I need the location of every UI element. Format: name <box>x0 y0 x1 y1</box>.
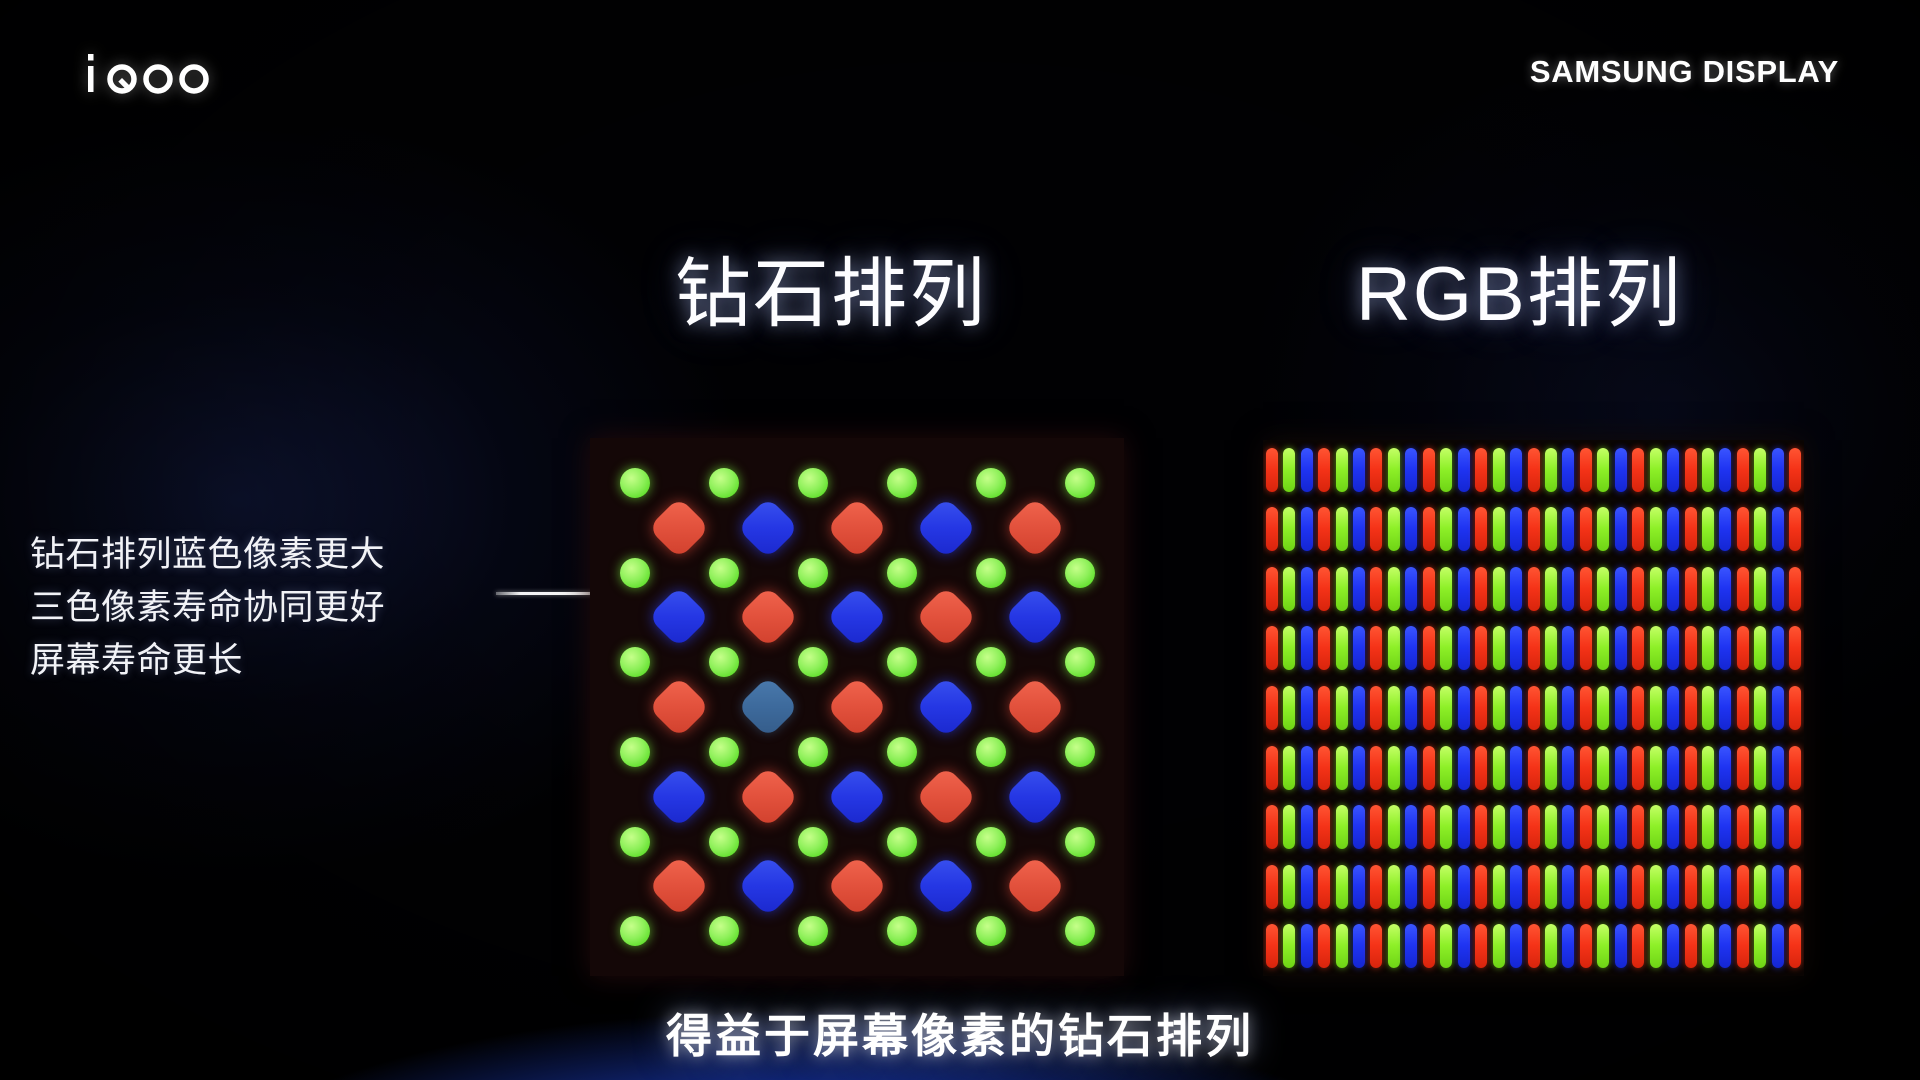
red-subpixel <box>1370 746 1382 790</box>
red-subpixel <box>1528 865 1540 909</box>
blue-subpixel <box>915 855 977 917</box>
blue-subpixel <box>1405 448 1417 492</box>
blue-subpixel <box>1301 626 1313 670</box>
green-subpixel <box>887 827 917 857</box>
green-subpixel <box>1440 924 1452 968</box>
blue-subpixel <box>1667 924 1679 968</box>
green-subpixel <box>1440 746 1452 790</box>
green-subpixel <box>1493 805 1505 849</box>
green-subpixel <box>1440 686 1452 730</box>
green-subpixel <box>1493 865 1505 909</box>
red-subpixel <box>1266 686 1278 730</box>
green-subpixel <box>1388 805 1400 849</box>
blue-subpixel <box>1667 805 1679 849</box>
green-subpixel <box>1650 686 1662 730</box>
red-subpixel <box>915 766 977 828</box>
blue-subpixel <box>1562 924 1574 968</box>
green-subpixel <box>1650 567 1662 611</box>
green-subpixel <box>1545 448 1557 492</box>
blue-subpixel <box>1667 865 1679 909</box>
red-subpixel <box>737 766 799 828</box>
diamond-pixel-grid <box>590 438 1124 976</box>
blue-subpixel <box>648 586 710 648</box>
rgb-stripe-pixel-grid <box>1263 440 1804 976</box>
annotation-line-1: 钻石排列蓝色像素更大 <box>30 528 510 581</box>
green-subpixel <box>1388 567 1400 611</box>
red-subpixel <box>826 676 888 738</box>
red-subpixel <box>1737 865 1749 909</box>
green-subpixel <box>1650 448 1662 492</box>
red-subpixel <box>1475 686 1487 730</box>
green-subpixel <box>1440 507 1452 551</box>
samsung-display-logo: SAMSUNG DISPLAY <box>1530 54 1839 90</box>
blue-subpixel <box>1615 686 1627 730</box>
red-subpixel <box>1370 567 1382 611</box>
blue-subpixel <box>1405 805 1417 849</box>
blue-subpixel <box>1301 805 1313 849</box>
red-subpixel <box>1423 805 1435 849</box>
green-subpixel <box>1597 567 1609 611</box>
blue-subpixel <box>1405 865 1417 909</box>
green-subpixel <box>709 916 739 946</box>
green-subpixel <box>1493 567 1505 611</box>
blue-subpixel <box>1458 865 1470 909</box>
red-subpixel <box>1423 686 1435 730</box>
red-subpixel <box>1632 924 1644 968</box>
iqoo-wordmark-icon <box>86 52 226 94</box>
green-subpixel <box>1283 448 1295 492</box>
blue-subpixel <box>1301 567 1313 611</box>
green-subpixel <box>798 468 828 498</box>
blue-subpixel <box>1772 924 1784 968</box>
red-subpixel <box>1318 924 1330 968</box>
green-subpixel <box>1336 805 1348 849</box>
blue-subpixel <box>1458 686 1470 730</box>
blue-subpixel <box>1562 567 1574 611</box>
blue-subpixel <box>1510 448 1522 492</box>
red-subpixel <box>648 676 710 738</box>
blue-subpixel <box>1510 507 1522 551</box>
red-subpixel <box>1737 626 1749 670</box>
green-subpixel <box>1440 448 1452 492</box>
red-subpixel <box>1789 746 1801 790</box>
green-subpixel <box>1702 805 1714 849</box>
red-subpixel <box>1423 924 1435 968</box>
slide-canvas: SAMSUNG DISPLAY 钻石排列 RGB排列 钻石排列蓝色像素更大三色像… <box>0 0 1920 1080</box>
red-subpixel <box>1266 805 1278 849</box>
green-subpixel <box>1283 507 1295 551</box>
green-subpixel <box>1597 805 1609 849</box>
green-subpixel <box>1065 737 1095 767</box>
green-subpixel <box>1283 686 1295 730</box>
green-subpixel <box>1702 746 1714 790</box>
iqoo-logo <box>86 52 226 94</box>
blue-subpixel <box>1562 805 1574 849</box>
blue-subpixel <box>1772 507 1784 551</box>
blue-subpixel <box>1667 746 1679 790</box>
red-subpixel <box>1266 626 1278 670</box>
blue-subpixel <box>1615 924 1627 968</box>
red-subpixel <box>1789 626 1801 670</box>
blue-subpixel <box>1615 567 1627 611</box>
green-subpixel <box>709 647 739 677</box>
blue-subpixel <box>1405 626 1417 670</box>
green-subpixel <box>1493 448 1505 492</box>
green-subpixel <box>976 737 1006 767</box>
green-subpixel <box>1650 924 1662 968</box>
green-subpixel <box>1283 567 1295 611</box>
red-subpixel <box>1737 924 1749 968</box>
blue-subpixel <box>826 766 888 828</box>
blue-subpixel <box>1562 626 1574 670</box>
red-subpixel <box>1789 805 1801 849</box>
green-subpixel <box>1597 746 1609 790</box>
green-subpixel <box>1283 924 1295 968</box>
blue-subpixel <box>1562 865 1574 909</box>
red-subpixel <box>1423 626 1435 670</box>
green-subpixel <box>1493 686 1505 730</box>
red-subpixel <box>1580 924 1592 968</box>
green-subpixel <box>1283 626 1295 670</box>
green-subpixel <box>1440 805 1452 849</box>
green-subpixel <box>1702 924 1714 968</box>
red-subpixel <box>1318 686 1330 730</box>
blue-subpixel <box>1510 924 1522 968</box>
red-subpixel <box>1528 626 1540 670</box>
red-subpixel <box>1318 746 1330 790</box>
green-subpixel <box>1065 468 1095 498</box>
red-subpixel <box>1789 924 1801 968</box>
green-subpixel <box>709 737 739 767</box>
red-subpixel <box>1685 924 1697 968</box>
red-subpixel <box>1685 448 1697 492</box>
green-subpixel <box>1754 746 1766 790</box>
red-subpixel <box>1685 805 1697 849</box>
green-subpixel <box>709 558 739 588</box>
blue-subpixel <box>1719 448 1731 492</box>
green-subpixel <box>798 558 828 588</box>
green-subpixel <box>1065 647 1095 677</box>
red-subpixel <box>1632 448 1644 492</box>
green-subpixel <box>1754 924 1766 968</box>
blue-subpixel <box>1405 746 1417 790</box>
annotation-text-block: 钻石排列蓝色像素更大三色像素寿命协同更好屏幕寿命更长 <box>30 528 510 687</box>
blue-subpixel <box>1510 746 1522 790</box>
red-subpixel <box>1632 686 1644 730</box>
green-subpixel <box>1336 686 1348 730</box>
green-subpixel <box>1702 865 1714 909</box>
red-subpixel <box>648 497 710 559</box>
red-subpixel <box>1789 865 1801 909</box>
blue-subpixel <box>1562 507 1574 551</box>
green-subpixel <box>1388 507 1400 551</box>
green-subpixel <box>976 916 1006 946</box>
red-subpixel <box>1266 567 1278 611</box>
red-subpixel <box>1266 448 1278 492</box>
green-subpixel <box>709 468 739 498</box>
red-subpixel <box>1475 507 1487 551</box>
blue-subpixel <box>1719 686 1731 730</box>
blue-subpixel <box>1772 805 1784 849</box>
blue-subpixel <box>1405 924 1417 968</box>
blue-subpixel <box>1772 686 1784 730</box>
red-subpixel <box>826 855 888 917</box>
annotation-line-2: 三色像素寿命协同更好 <box>30 581 510 634</box>
blue-subpixel <box>1405 507 1417 551</box>
red-subpixel <box>1423 448 1435 492</box>
red-subpixel <box>1528 746 1540 790</box>
blue-subpixel <box>1667 686 1679 730</box>
green-subpixel <box>1597 626 1609 670</box>
red-subpixel <box>1580 865 1592 909</box>
green-subpixel <box>620 827 650 857</box>
green-subpixel <box>1388 686 1400 730</box>
green-subpixel <box>1493 626 1505 670</box>
red-subpixel <box>1580 626 1592 670</box>
green-subpixel <box>1336 626 1348 670</box>
red-subpixel <box>1528 567 1540 611</box>
green-subpixel <box>1336 865 1348 909</box>
blue-subpixel <box>1772 448 1784 492</box>
green-subpixel <box>1336 746 1348 790</box>
red-subpixel <box>1685 686 1697 730</box>
red-subpixel <box>1632 507 1644 551</box>
blue-subpixel <box>1458 448 1470 492</box>
red-subpixel <box>826 497 888 559</box>
green-subpixel <box>887 647 917 677</box>
blue-subpixel <box>1719 507 1731 551</box>
red-subpixel <box>1266 924 1278 968</box>
red-subpixel <box>1737 448 1749 492</box>
red-subpixel <box>1370 805 1382 849</box>
blue-subpixel <box>1562 746 1574 790</box>
green-subpixel <box>1336 448 1348 492</box>
green-subpixel <box>1440 626 1452 670</box>
red-subpixel <box>1370 507 1382 551</box>
blue-subpixel <box>1353 865 1365 909</box>
green-subpixel <box>1702 448 1714 492</box>
green-subpixel <box>620 468 650 498</box>
green-subpixel <box>976 827 1006 857</box>
green-subpixel <box>976 558 1006 588</box>
blue-subpixel <box>1004 766 1066 828</box>
green-subpixel <box>620 647 650 677</box>
green-subpixel <box>1388 448 1400 492</box>
blue-subpixel <box>915 676 977 738</box>
blue-subpixel <box>737 497 799 559</box>
blue-subpixel <box>1510 686 1522 730</box>
red-subpixel <box>1737 507 1749 551</box>
blue-subpixel <box>1615 448 1627 492</box>
red-subpixel <box>1789 686 1801 730</box>
red-subpixel <box>1632 805 1644 849</box>
red-subpixel <box>1475 924 1487 968</box>
blue-subpixel <box>1353 567 1365 611</box>
green-subpixel <box>1545 805 1557 849</box>
blue-subpixel <box>1719 567 1731 611</box>
red-subpixel <box>1580 567 1592 611</box>
red-subpixel <box>1685 626 1697 670</box>
green-subpixel <box>1650 805 1662 849</box>
red-subpixel <box>1370 448 1382 492</box>
red-subpixel <box>1528 924 1540 968</box>
blue-subpixel <box>1772 626 1784 670</box>
blue-subpixel <box>1458 924 1470 968</box>
blue-subpixel <box>1510 865 1522 909</box>
blue-subpixel <box>1301 686 1313 730</box>
green-subpixel <box>1388 924 1400 968</box>
red-subpixel <box>1580 507 1592 551</box>
green-subpixel <box>798 737 828 767</box>
green-subpixel <box>1388 865 1400 909</box>
green-subpixel <box>1336 567 1348 611</box>
red-subpixel <box>1423 746 1435 790</box>
blue-subpixel <box>1353 507 1365 551</box>
blue-subpixel <box>1562 686 1574 730</box>
red-subpixel <box>1789 448 1801 492</box>
red-subpixel <box>1423 567 1435 611</box>
blue-subpixel <box>826 586 888 648</box>
blue-subpixel <box>1405 567 1417 611</box>
blue-subpixel <box>648 766 710 828</box>
green-subpixel <box>1493 924 1505 968</box>
red-subpixel <box>1580 805 1592 849</box>
red-subpixel <box>1528 448 1540 492</box>
green-subpixel <box>1650 746 1662 790</box>
green-subpixel <box>1545 924 1557 968</box>
green-subpixel <box>1754 448 1766 492</box>
green-subpixel <box>1754 805 1766 849</box>
blue-subpixel <box>1458 746 1470 790</box>
red-subpixel <box>915 586 977 648</box>
red-subpixel <box>1580 448 1592 492</box>
blue-subpixel <box>1004 586 1066 648</box>
green-subpixel <box>1597 686 1609 730</box>
blue-subpixel-dim <box>737 676 799 738</box>
green-subpixel <box>1283 746 1295 790</box>
green-subpixel <box>620 916 650 946</box>
green-subpixel <box>1754 507 1766 551</box>
red-subpixel <box>1580 686 1592 730</box>
blue-subpixel <box>1772 567 1784 611</box>
red-subpixel <box>1318 626 1330 670</box>
green-subpixel <box>1545 507 1557 551</box>
blue-subpixel <box>1772 746 1784 790</box>
blue-subpixel <box>1719 626 1731 670</box>
red-subpixel <box>1580 746 1592 790</box>
green-subpixel <box>1545 626 1557 670</box>
red-subpixel <box>1475 746 1487 790</box>
red-subpixel <box>1266 865 1278 909</box>
green-subpixel <box>887 737 917 767</box>
green-subpixel <box>1754 865 1766 909</box>
blue-subpixel <box>1301 507 1313 551</box>
red-subpixel <box>1475 448 1487 492</box>
green-subpixel <box>1336 924 1348 968</box>
blue-subpixel <box>1615 865 1627 909</box>
blue-subpixel <box>1301 448 1313 492</box>
green-subpixel <box>1597 448 1609 492</box>
red-subpixel <box>1632 865 1644 909</box>
blue-subpixel <box>1353 805 1365 849</box>
red-subpixel <box>1632 626 1644 670</box>
green-subpixel <box>1065 827 1095 857</box>
red-subpixel <box>1423 507 1435 551</box>
red-subpixel <box>1318 448 1330 492</box>
blue-subpixel <box>1667 448 1679 492</box>
green-subpixel <box>1754 686 1766 730</box>
red-subpixel <box>1528 507 1540 551</box>
red-subpixel <box>1318 507 1330 551</box>
green-subpixel <box>887 468 917 498</box>
red-subpixel <box>1318 805 1330 849</box>
red-subpixel <box>1475 805 1487 849</box>
green-subpixel <box>1597 507 1609 551</box>
red-subpixel <box>1004 497 1066 559</box>
annotation-line-3: 屏幕寿命更长 <box>30 634 510 687</box>
blue-subpixel <box>1458 567 1470 611</box>
red-subpixel <box>1528 805 1540 849</box>
green-subpixel <box>620 558 650 588</box>
green-subpixel <box>1702 507 1714 551</box>
green-subpixel <box>1065 558 1095 588</box>
green-subpixel <box>798 827 828 857</box>
green-subpixel <box>1754 626 1766 670</box>
red-subpixel <box>1789 567 1801 611</box>
red-subpixel <box>1737 805 1749 849</box>
blue-subpixel <box>1405 686 1417 730</box>
blue-subpixel <box>1667 626 1679 670</box>
green-subpixel <box>1545 746 1557 790</box>
green-subpixel <box>1388 746 1400 790</box>
blue-subpixel <box>1719 805 1731 849</box>
red-subpixel <box>1004 855 1066 917</box>
green-subpixel <box>1650 507 1662 551</box>
green-subpixel <box>1702 686 1714 730</box>
red-subpixel <box>1789 507 1801 551</box>
green-subpixel <box>976 468 1006 498</box>
blue-subpixel <box>1510 805 1522 849</box>
blue-subpixel <box>1353 746 1365 790</box>
red-subpixel <box>1737 567 1749 611</box>
red-subpixel <box>1685 567 1697 611</box>
red-subpixel <box>1423 865 1435 909</box>
green-subpixel <box>1545 567 1557 611</box>
green-subpixel <box>1493 746 1505 790</box>
blue-subpixel <box>1301 865 1313 909</box>
red-subpixel <box>1266 746 1278 790</box>
red-subpixel <box>1475 865 1487 909</box>
blue-subpixel <box>1667 567 1679 611</box>
red-subpixel <box>1632 567 1644 611</box>
blue-subpixel <box>1353 448 1365 492</box>
blue-subpixel <box>1615 507 1627 551</box>
blue-subpixel <box>1353 686 1365 730</box>
red-subpixel <box>1475 567 1487 611</box>
green-subpixel <box>887 916 917 946</box>
green-subpixel <box>620 737 650 767</box>
red-subpixel <box>1318 865 1330 909</box>
red-subpixel <box>1318 567 1330 611</box>
green-subpixel <box>709 827 739 857</box>
blue-subpixel <box>1562 448 1574 492</box>
red-subpixel <box>1266 507 1278 551</box>
red-subpixel <box>1370 924 1382 968</box>
blue-subpixel <box>1353 626 1365 670</box>
red-subpixel <box>1737 686 1749 730</box>
green-subpixel <box>1283 865 1295 909</box>
slide-caption: 得益于屏幕像素的钻石排列 <box>0 1000 1920 1066</box>
